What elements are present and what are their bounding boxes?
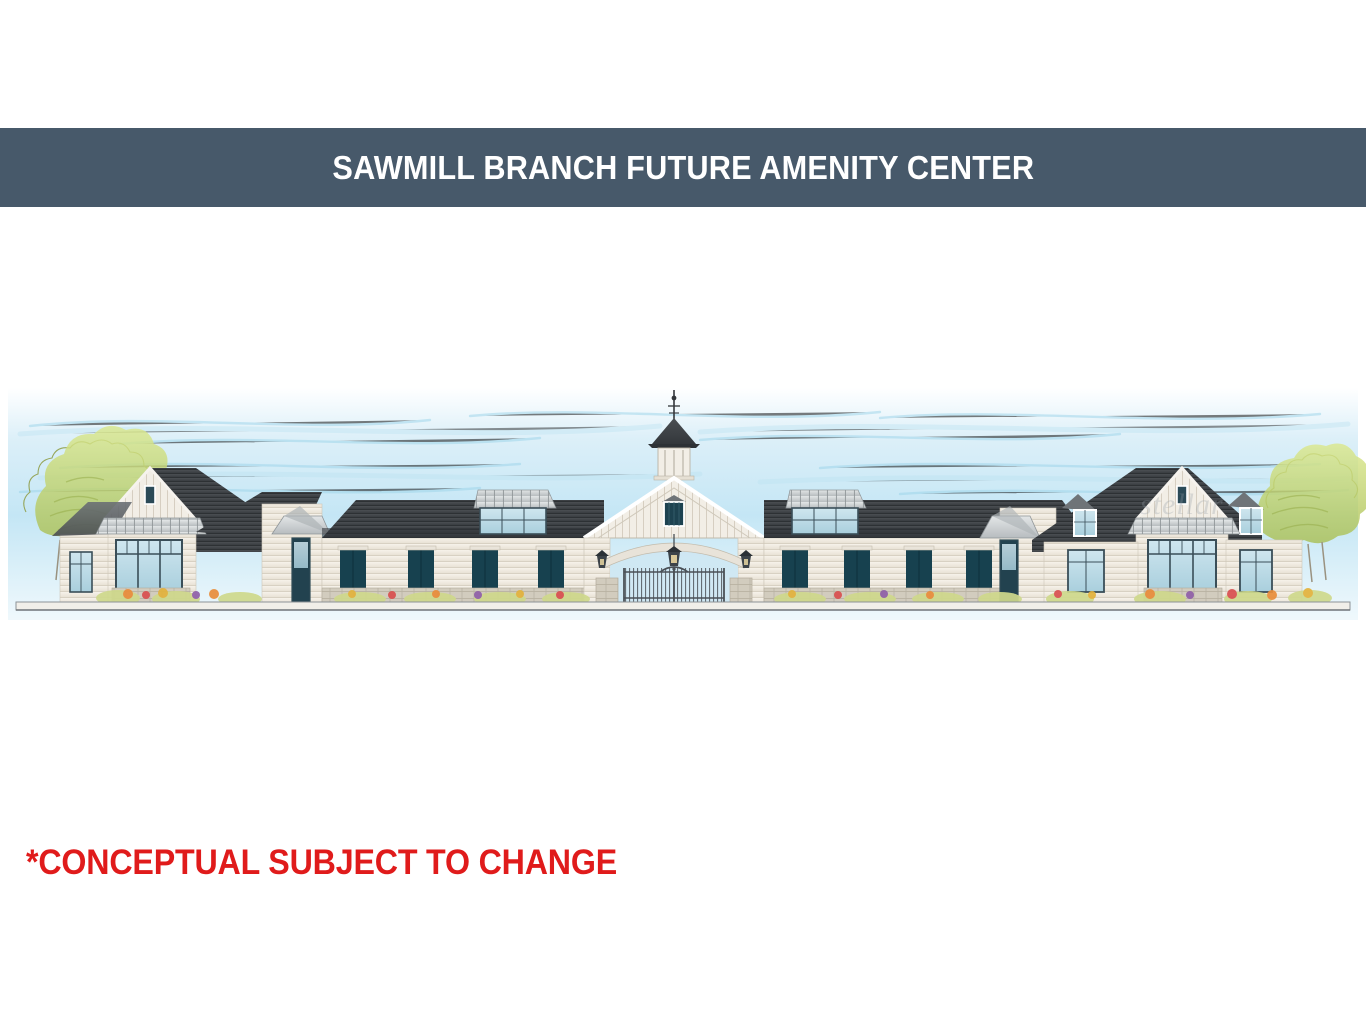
right-shed-dormer bbox=[786, 490, 866, 534]
conceptual-disclaimer: *CONCEPTUAL SUBJECT TO CHANGE bbox=[26, 843, 617, 883]
right-connector bbox=[764, 490, 1032, 602]
ground-line bbox=[16, 602, 1350, 610]
left-shed-dormer bbox=[474, 490, 556, 534]
title-banner: SAWMILL BRANCH FUTURE AMENITY CENTER bbox=[0, 128, 1366, 207]
rendering-svg bbox=[0, 382, 1366, 632]
amenity-center-rendering bbox=[0, 382, 1366, 632]
page-title: SAWMILL BRANCH FUTURE AMENITY CENTER bbox=[332, 149, 1034, 187]
entry-gate bbox=[624, 567, 724, 602]
left-connector bbox=[322, 490, 604, 602]
